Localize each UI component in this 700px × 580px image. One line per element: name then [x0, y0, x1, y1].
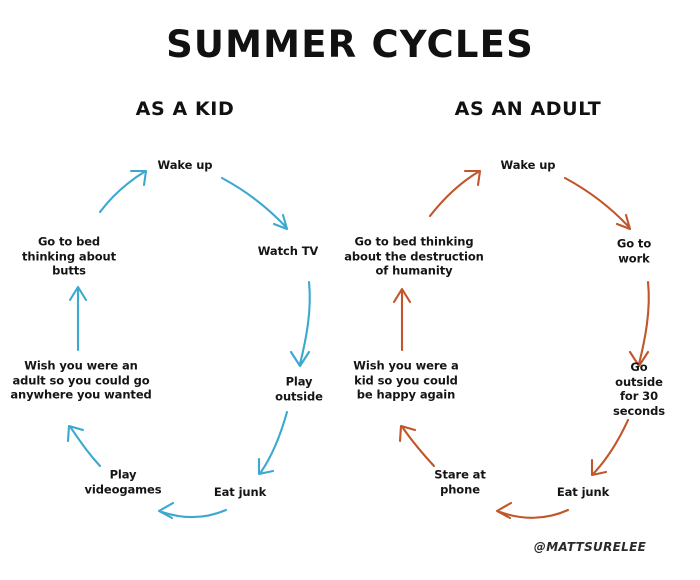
- arrow-kid-outside-to-junk-head: [259, 459, 273, 474]
- page-title: SUMMER CYCLES: [0, 26, 700, 63]
- arrow-adult-bed-to-wake-head: [465, 171, 480, 185]
- column-heading-kid: AS A KID: [85, 100, 285, 119]
- node-kid-go-to-bed: Go to bed thinking about butts: [22, 234, 116, 278]
- arrow-kid-junk-to-games: [162, 510, 226, 517]
- node-kid-watch-tv: Watch TV: [258, 244, 319, 259]
- node-adult-go-to-bed: Go to bed thinking about the destruction…: [344, 234, 484, 278]
- arrow-adult-junk-to-phone-head: [497, 503, 511, 518]
- node-adult-wake-up: Wake up: [501, 158, 556, 173]
- node-kid-wake-up: Wake up: [158, 158, 213, 173]
- node-adult-go-to-work: Go to work: [601, 237, 667, 266]
- node-adult-eat-junk: Eat junk: [557, 485, 609, 500]
- arrow-adult-outside-to-junk-head: [592, 460, 606, 475]
- arrow-kid-bed-to-wake-head: [131, 171, 146, 185]
- arrow-adult-junk-to-phone: [500, 510, 568, 518]
- node-adult-go-outside: Go outside for 30 seconds: [609, 360, 670, 418]
- node-adult-stare-at-phone: Stare at phone: [434, 468, 485, 497]
- arrow-adult-phone-to-wish-head: [400, 426, 415, 441]
- node-kid-play-videogames: Play videogames: [85, 468, 162, 497]
- arrow-adult-outside-to-junk: [594, 420, 628, 473]
- arrow-adult-bed-to-wake: [430, 172, 478, 216]
- arrow-kid-junk-to-games-head: [159, 503, 173, 518]
- node-kid-eat-junk: Eat junk: [214, 485, 266, 500]
- arrow-kid-tv-to-outside-head: [291, 352, 309, 366]
- watermark-handle: @MATTSURELEE: [500, 540, 680, 554]
- arrow-kid-outside-to-junk: [261, 412, 287, 472]
- column-heading-adult: AS AN ADULT: [428, 100, 628, 119]
- node-kid-play-outside: Play outside: [275, 375, 323, 404]
- arrow-kid-games-to-wish: [71, 428, 100, 466]
- arrow-kid-tv-to-outside: [300, 282, 310, 364]
- arrow-kid-games-to-wish-head: [68, 426, 83, 441]
- meme-canvas: SUMMER CYCLES AS A KID AS AN ADULT: [0, 0, 700, 580]
- arrow-kid-bed-to-wake: [100, 172, 144, 212]
- arrow-adult-wake-to-work: [565, 178, 628, 226]
- arrow-kid-wake-to-tv: [222, 178, 285, 226]
- arrow-kid-wish-to-bed-head: [70, 287, 86, 300]
- node-kid-wish: Wish you were an adult so you could go a…: [10, 358, 151, 402]
- arrow-adult-wish-to-bed-head: [394, 289, 410, 302]
- arrow-adult-work-to-outside: [639, 282, 649, 364]
- arrow-adult-phone-to-wish: [403, 428, 434, 466]
- arrow-adult-wake-to-work-head: [617, 215, 630, 229]
- arrow-kid-wake-to-tv-head: [274, 215, 287, 229]
- node-adult-wish: Wish you were a kid so you could be happ…: [353, 358, 458, 402]
